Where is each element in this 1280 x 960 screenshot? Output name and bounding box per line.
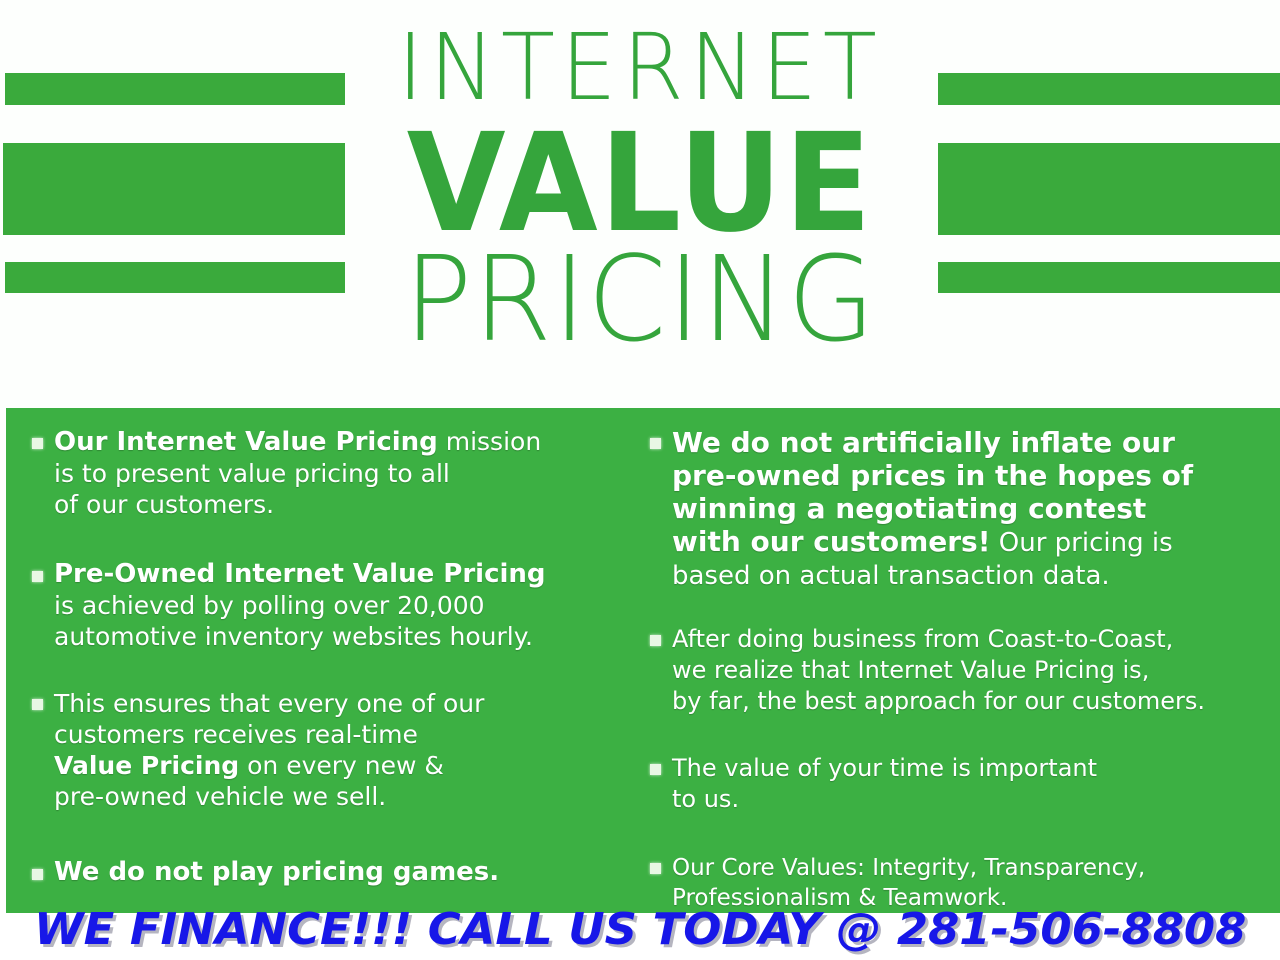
bullet-value-of-your-time: The value of your time is important to u… bbox=[646, 753, 1276, 815]
bullet-line: Our Internet Value Pricing mission bbox=[54, 426, 618, 458]
bullet-no-artificial-inflation: We do not artificially inflate our pre-o… bbox=[646, 426, 1276, 593]
logo-word-internet: INTERNET bbox=[26, 22, 1255, 114]
bullet-coast-to-coast: After doing business from Coast-to-Coast… bbox=[646, 624, 1276, 717]
bullet-marker-icon bbox=[650, 438, 661, 449]
bullet-marker-icon bbox=[650, 863, 661, 874]
bullet-line: with our customers! Our pricing is bbox=[672, 525, 1276, 560]
panel-columns: Our Internet Value Pricing mission is to… bbox=[6, 426, 1280, 913]
bullet-emphasis: Value Pricing bbox=[54, 751, 239, 780]
bullet-line: is to present value pricing to all bbox=[54, 458, 618, 489]
bullet-marker-icon bbox=[32, 438, 43, 449]
bullet-line: The value of your time is important bbox=[672, 753, 1276, 784]
bullet-line: We do not play pricing games. bbox=[54, 857, 618, 888]
bullet-line: Value Pricing on every new & bbox=[54, 750, 618, 781]
bullet-marker-icon bbox=[32, 571, 43, 582]
bullet-tail: on every new & bbox=[239, 751, 444, 780]
bullet-no-pricing-games: We do not play pricing games. bbox=[28, 857, 618, 888]
bullet-tail: mission bbox=[438, 427, 541, 456]
bullet-line: After doing business from Coast-to-Coast… bbox=[672, 624, 1276, 655]
finance-call-to-action[interactable]: WE FINANCE!!! CALL US TODAY @ 281-506-88… bbox=[34, 904, 1246, 955]
bullet-line: by far, the best approach for our custom… bbox=[672, 686, 1276, 717]
bullet-lead: Our Internet Value Pricing bbox=[54, 427, 438, 457]
bullet-line: customers receives real-time bbox=[54, 719, 618, 750]
bullet-lead: Pre-Owned Internet Value Pricing bbox=[54, 559, 618, 590]
bullet-line: pre-owned prices in the hopes of bbox=[672, 459, 1276, 492]
bullet-pre-owned-polling: Pre-Owned Internet Value Pricing is achi… bbox=[28, 559, 618, 652]
bullet-line: Our Core Values: Integrity, Transparency… bbox=[672, 853, 1276, 883]
bullet-line: winning a negotiating contest bbox=[672, 492, 1276, 525]
bullet-line: automotive inventory websites hourly. bbox=[54, 621, 618, 652]
panel-column-left: Our Internet Value Pricing mission is to… bbox=[28, 426, 618, 888]
bullet-line: based on actual transaction data. bbox=[672, 560, 1276, 593]
panel-column-right: We do not artificially inflate our pre-o… bbox=[646, 426, 1276, 913]
bullet-mission: Our Internet Value Pricing mission is to… bbox=[28, 426, 618, 520]
bullet-marker-icon bbox=[650, 635, 661, 646]
logo-header: INTERNET VALUE PRICING bbox=[0, 0, 1280, 408]
bullet-marker-icon bbox=[650, 764, 661, 775]
bullet-line: to us. bbox=[672, 784, 1276, 815]
value-pricing-panel: Our Internet Value Pricing mission is to… bbox=[6, 408, 1280, 913]
bullet-line: This ensures that every one of our bbox=[54, 688, 618, 719]
bullet-line: pre-owned vehicle we sell. bbox=[54, 781, 618, 812]
finance-banner: WE FINANCE!!! CALL US TODAY @ 281-506-88… bbox=[0, 898, 1280, 960]
bullet-marker-icon bbox=[32, 869, 43, 880]
bullet-marker-icon bbox=[32, 699, 43, 710]
bullet-real-time-value-pricing: This ensures that every one of our custo… bbox=[28, 688, 618, 812]
bullet-line: We do not artificially inflate our bbox=[672, 426, 1276, 459]
bullet-line: of our customers. bbox=[54, 489, 618, 520]
bullet-emphasis: with our customers! bbox=[672, 525, 991, 558]
bullet-line: we realize that Internet Value Pricing i… bbox=[672, 655, 1276, 686]
bullet-line: is achieved by polling over 20,000 bbox=[54, 590, 618, 621]
logo-word-pricing: PRICING bbox=[26, 240, 1255, 358]
bullet-tail: Our pricing is bbox=[991, 528, 1173, 558]
